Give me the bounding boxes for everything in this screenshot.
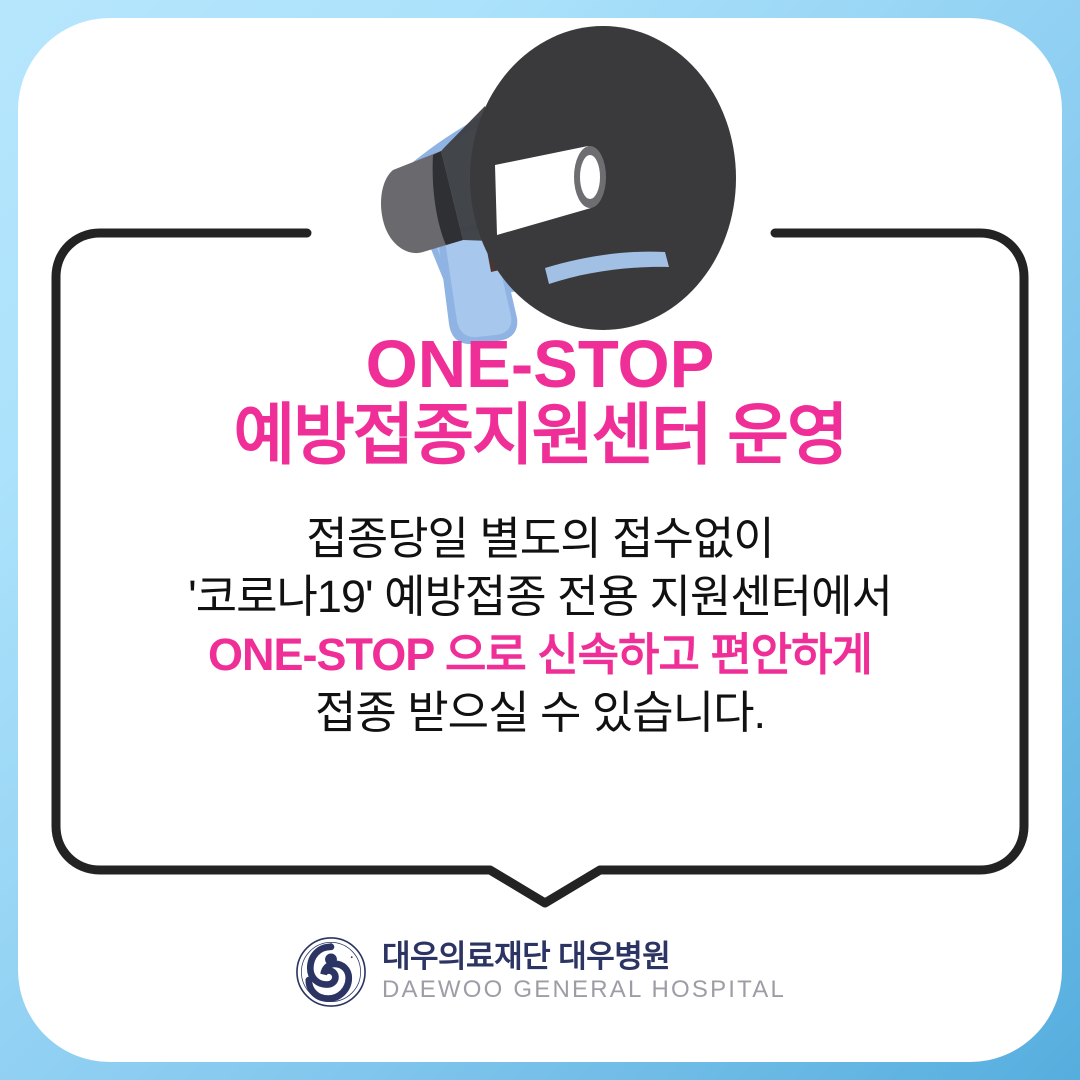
body-line-2: '코로나19' 예방접종 전용 지원센터에서 <box>55 568 1025 626</box>
daewoo-hospital-emblem-icon <box>294 935 368 1009</box>
emblem-dot <box>325 954 337 966</box>
headline-line-2: 예방접종지원센터 운영 <box>55 401 1025 470</box>
headline: ONE-STOP 예방접종지원센터 운영 <box>55 330 1025 470</box>
body-line-3-highlight: ONE-STOP 으로 신속하고 편안하게 <box>55 626 1025 684</box>
body-copy: 접종당일 별도의 접수없이 '코로나19' 예방접종 전용 지원센터에서 ONE… <box>55 510 1025 742</box>
megaphone-speaker-hole <box>580 155 600 199</box>
message-text-block: ONE-STOP 예방접종지원센터 운영 접종당일 별도의 접수없이 '코로나1… <box>55 330 1025 742</box>
hospital-name-en: DAEWOO GENERAL HOSPITAL <box>382 976 786 1004</box>
poster-canvas: ONE-STOP 예방접종지원센터 운영 접종당일 별도의 접수없이 '코로나1… <box>0 0 1080 1080</box>
body-line-1: 접종당일 별도의 접수없이 <box>55 510 1025 568</box>
hospital-logo: 대우의료재단 대우병원 DAEWOO GENERAL HOSPITAL <box>0 935 1080 1009</box>
hospital-name-ko: 대우의료재단 대우병원 <box>382 940 670 973</box>
body-line-4: 접종 받으실 수 있습니다. <box>55 684 1025 742</box>
hospital-wordmark: 대우의료재단 대우병원 DAEWOO GENERAL HOSPITAL <box>382 940 786 1003</box>
headline-line-1: ONE-STOP <box>55 330 1025 399</box>
megaphone-illustration <box>345 18 745 348</box>
